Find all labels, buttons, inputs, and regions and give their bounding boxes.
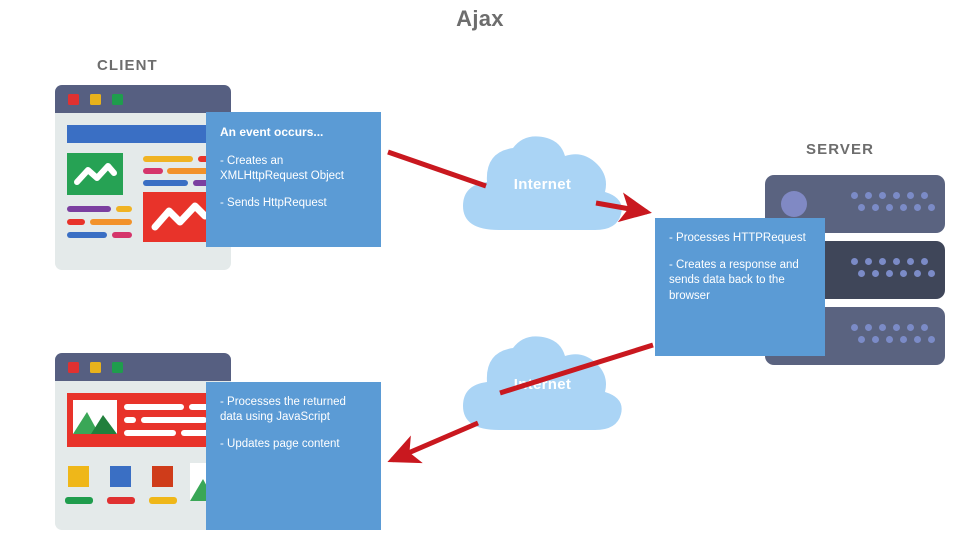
mountain-icon [73,400,117,434]
minimize-dot-icon [90,94,101,105]
text-line [143,156,193,162]
callout-line: - Processes HTTPRequest [669,231,811,246]
tile-red [152,466,173,487]
text-line [67,219,85,225]
image-card-green [67,153,123,195]
callout-line: - Sends HttpRequest [220,196,367,211]
internet-cloud-upper: Internet [455,130,630,235]
callout-line: - Creates a response and sends data back… [669,258,811,304]
callout-line: - Updates page content [220,437,367,452]
text-line [90,219,132,225]
client-browser-bottom [55,353,231,530]
text-line [107,497,135,504]
tile-yellow [68,466,89,487]
callout-client-update: - Processes the returned data using Java… [206,382,381,530]
minimize-dot-icon [90,362,101,373]
callout-heading: An event occurs... [220,125,367,141]
tile-blue [110,466,131,487]
callout-server-process: - Processes HTTPRequest - Creates a resp… [655,218,825,356]
mountain-icon [67,153,123,195]
callout-line: - Creates an XMLHttpRequest Object [220,154,367,184]
text-line [116,206,132,212]
browser-content [55,381,231,530]
ajax-diagram: Ajax CLIENT SERVER [0,0,960,540]
text-line [143,168,163,174]
close-dot-icon [68,94,79,105]
internet-cloud-lower: Internet [455,330,630,435]
text-line [124,430,176,436]
text-line [112,232,132,238]
maximize-dot-icon [112,94,123,105]
callout-line: - Processes the returned data using Java… [220,395,367,425]
text-line [149,497,177,504]
client-label: CLIENT [97,57,158,74]
browser-content [55,113,231,270]
cloud-label: Internet [455,176,630,193]
text-line [141,417,207,423]
browser-titlebar [55,85,231,113]
photo-thumbnail [73,400,117,434]
browser-titlebar [55,353,231,381]
text-line [67,232,107,238]
text-line [124,417,136,423]
cloud-label: Internet [455,376,630,393]
callout-client-request: An event occurs... - Creates an XMLHttpR… [206,112,381,247]
article-card-red [67,393,219,447]
close-dot-icon [68,362,79,373]
client-browser-top [55,85,231,270]
text-line [143,180,188,186]
text-line [65,497,93,504]
page-title: Ajax [0,6,960,32]
text-line [124,404,184,410]
power-knob-icon [781,191,807,217]
text-line [67,206,111,212]
server-label: SERVER [806,141,874,158]
content-header-bar [67,125,219,143]
maximize-dot-icon [112,362,123,373]
